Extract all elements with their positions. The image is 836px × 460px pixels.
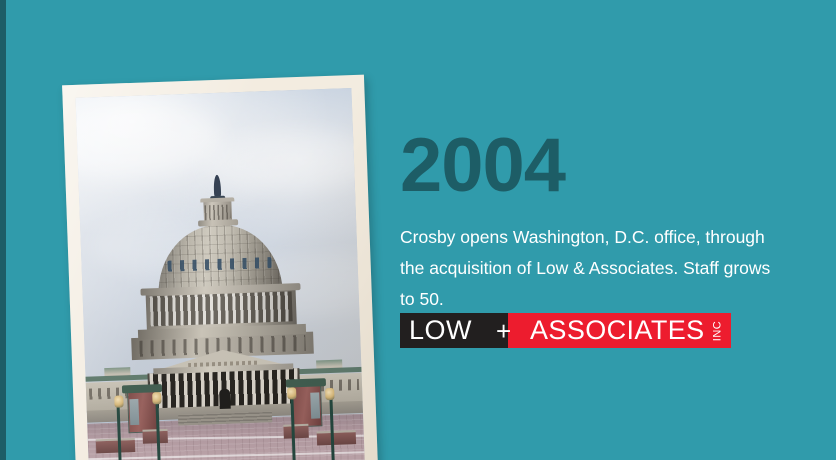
- polaroid-photo-card: [62, 75, 379, 460]
- left-planter-1: [96, 438, 135, 453]
- milestone-slide: 2004 Crosby opens Washington, D.C. offic…: [0, 0, 836, 460]
- right-planter-2: [283, 424, 308, 439]
- logo-suffix-inc: INC: [712, 320, 723, 340]
- milestone-content: 2004 Crosby opens Washington, D.C. offic…: [400, 128, 800, 331]
- peristyle-columns: [150, 292, 293, 327]
- right-kiosk-glass: [310, 393, 320, 419]
- logo-word-low: LOW: [400, 317, 472, 344]
- lamp-head-left-1: [114, 395, 123, 407]
- portico-doorway: [219, 389, 231, 409]
- lamp-head-right-1: [325, 388, 334, 400]
- right-planter-1: [317, 430, 356, 445]
- milestone-description: Crosby opens Washington, D.C. office, th…: [400, 222, 775, 315]
- right-kiosk-roof: [285, 378, 325, 387]
- left-kiosk-glass: [129, 399, 139, 425]
- milestone-year: 2004: [400, 128, 800, 204]
- left-planter-2: [143, 429, 168, 444]
- logo-red-panel: ASSOCIATES INC: [508, 313, 731, 348]
- low-associates-logo: LOW + ASSOCIATES INC: [400, 313, 731, 348]
- logo-word-associates: ASSOCIATES: [508, 317, 705, 344]
- logo-plus-icon: +: [496, 318, 511, 344]
- logo-black-panel: LOW +: [400, 313, 508, 348]
- lamp-head-right-2: [287, 387, 296, 399]
- capitol-photo: [76, 88, 366, 460]
- left-edge-accent-strip: [0, 0, 6, 460]
- lamp-head-left-2: [152, 392, 161, 404]
